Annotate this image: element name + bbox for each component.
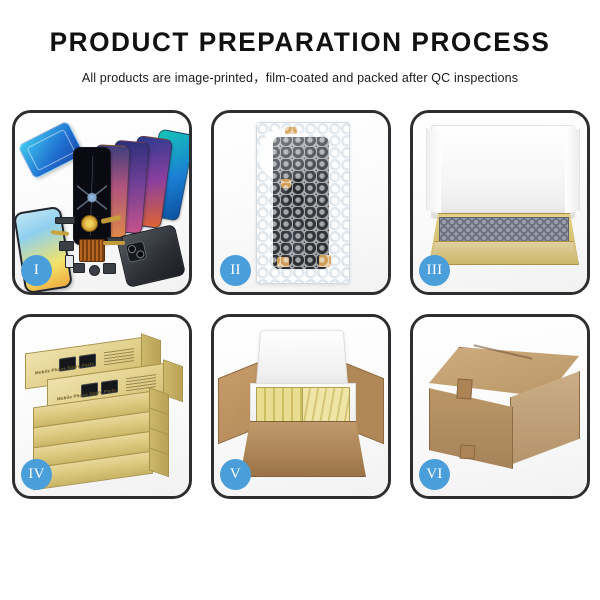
page-subtitle: All products are image-printed，film-coat… [0,67,600,86]
kraft-box-front-icon [429,241,579,265]
kraft-box-stack: Mobile Phone Spare Parts Mobile Phone Sp… [25,339,181,469]
process-step-panel-4[interactable]: Mobile Phone Spare Parts Mobile Phone Sp… [12,314,192,499]
process-step-panel-3[interactable]: III [410,110,590,295]
wrapped-phone-part-icon [273,137,329,269]
small-part-icon [73,263,85,273]
process-step-panel-6[interactable]: VI [410,314,590,499]
process-step-panel-5[interactable]: V [211,314,391,499]
tape-piece-icon [277,257,289,267]
carton-tape-lower [460,444,476,459]
small-part-icon [89,265,100,276]
tape-piece-icon [319,255,331,267]
small-part-icon [55,217,75,224]
copper-mesh-part-icon [79,239,105,262]
small-part-icon [103,263,116,274]
carton-tape-upper [456,379,472,400]
white-foam-lid-icon [431,125,575,219]
step-badge-4: IV [21,459,52,490]
step-badge-2: II [220,255,251,286]
phone-back-housing-icon [116,224,186,288]
bubble-wrap-bag-icon [256,122,350,284]
header: PRODUCT PREPARATION PROCESS All products… [0,0,600,86]
camera-module-icon [125,240,148,263]
tape-piece-icon [281,179,291,188]
carton-body-icon [240,421,366,477]
yellow-boxes-group-icon [302,387,350,423]
step-badge-3: III [419,255,450,286]
process-step-panel-1[interactable]: I [12,110,192,295]
step-badge-6: VI [419,459,450,490]
step-badge-1: I [21,255,52,286]
small-part-icon [59,241,74,251]
phone-screen-fan [73,129,191,229]
wireless-charging-coil-icon [81,215,98,232]
process-panel-grid: I II III [12,110,590,499]
step-badge-5: V [220,459,251,490]
label-text-lines [104,347,134,365]
flex-cable-icon [103,241,125,245]
small-part-icon [65,255,74,268]
tape-piece-icon [285,127,297,134]
page-title: PRODUCT PREPARATION PROCESS [9,28,591,58]
process-step-panel-2[interactable]: II [211,110,391,295]
